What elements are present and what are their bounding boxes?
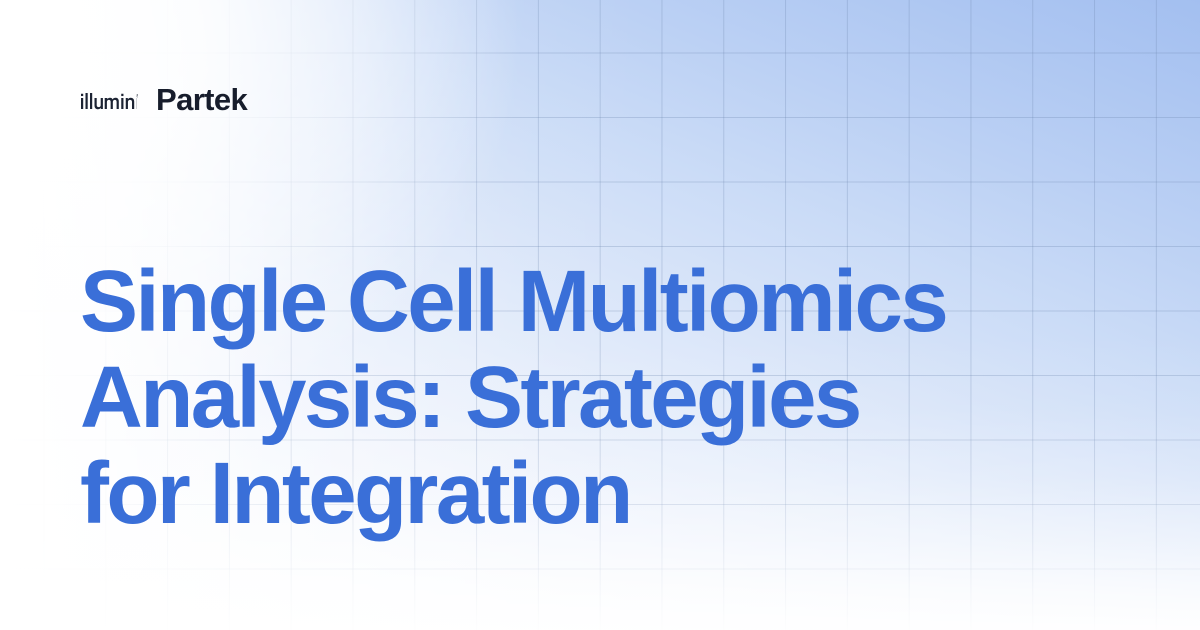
illumina-logo-icon: ® [80,91,138,111]
brand-lockup: ® Partek [80,84,247,117]
partek-wordmark: Partek [156,84,247,117]
social-share-banner: ® Partek Single Cell Multiomics Analysis… [0,0,1200,630]
page-title: Single Cell Multiomics Analysis: Strateg… [80,254,1120,542]
svg-text:®: ® [136,92,138,98]
